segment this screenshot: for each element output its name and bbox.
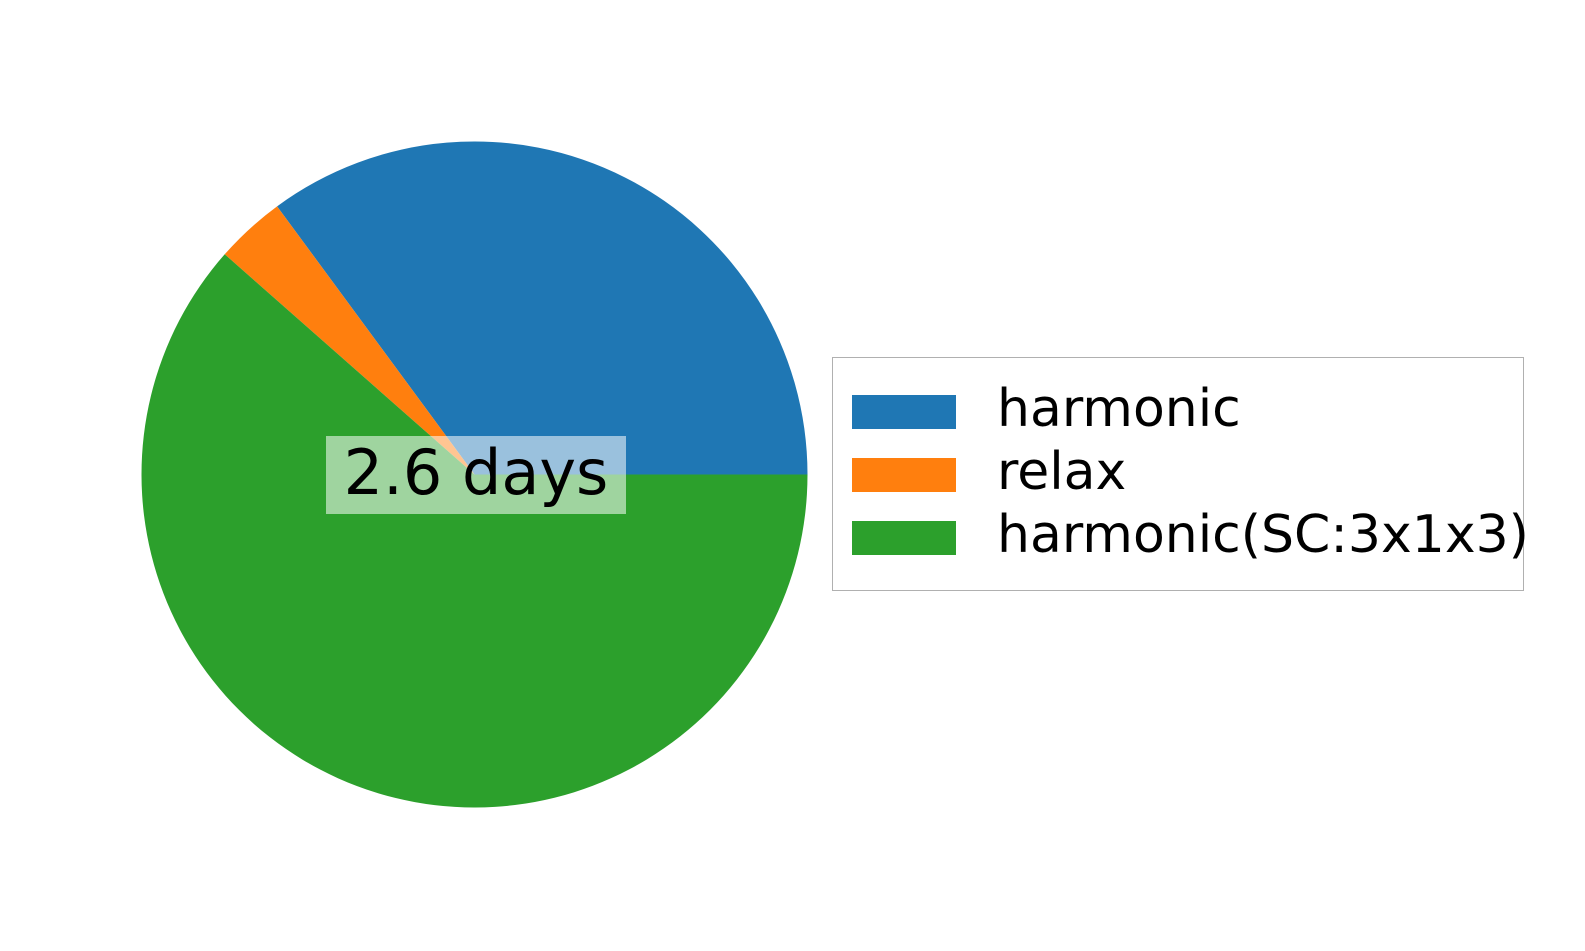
legend-label-harmonic: harmonic bbox=[997, 383, 1241, 441]
legend-label-relax: relax bbox=[997, 446, 1126, 504]
legend-item-harmonic-sc-3x1x3[interactable]: harmonic(SC:3x1x3) bbox=[852, 506, 1523, 569]
chart-legend: harmonic relax harmonic(SC:3x1x3) bbox=[832, 357, 1524, 591]
legend-item-relax[interactable]: relax bbox=[852, 443, 1523, 506]
pie-center-label-text: 2.6 days bbox=[344, 442, 609, 508]
legend-label-harmonic-sc-3x1x3: harmonic(SC:3x1x3) bbox=[997, 509, 1529, 567]
pie-center-label: 2.6 days bbox=[326, 436, 626, 514]
legend-swatch-harmonic bbox=[852, 395, 956, 429]
legend-swatch-relax bbox=[852, 458, 956, 492]
figure-canvas: 2.6 days harmonic relax harmonic(SC:3x1x… bbox=[0, 0, 1585, 951]
legend-item-harmonic[interactable]: harmonic bbox=[852, 380, 1523, 443]
legend-swatch-harmonic-sc-3x1x3 bbox=[852, 521, 956, 555]
